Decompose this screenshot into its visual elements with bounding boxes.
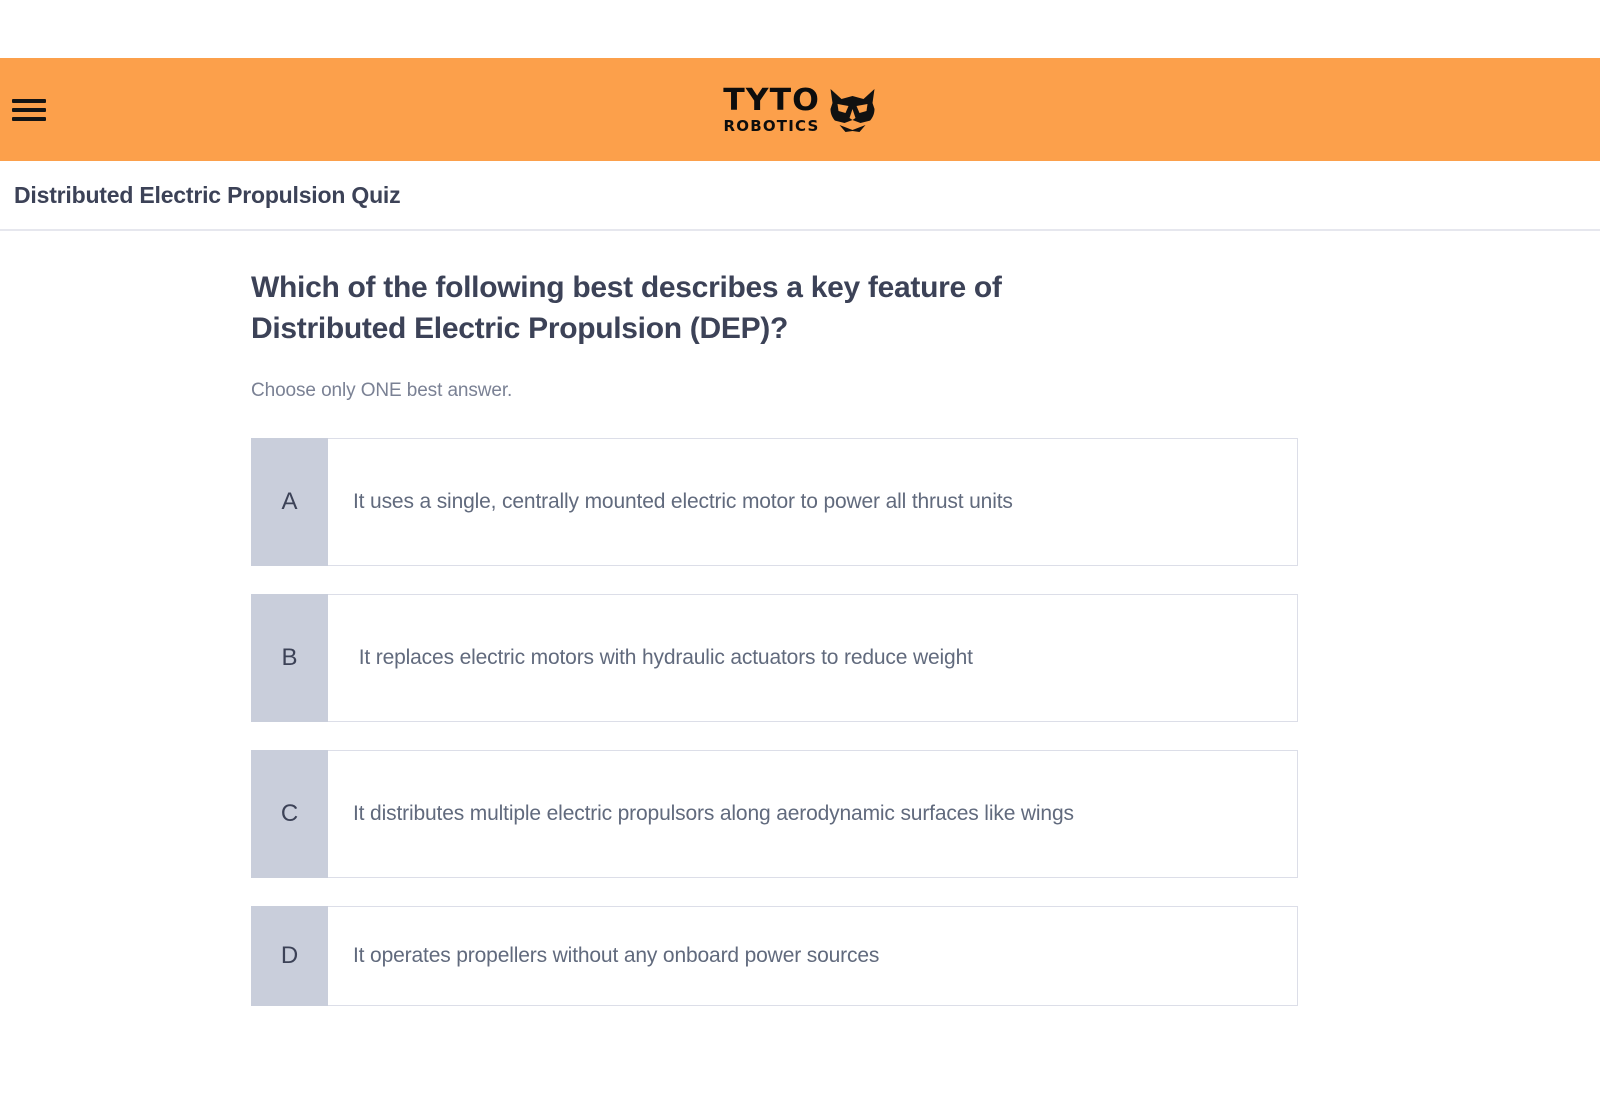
option-letter-a: A xyxy=(251,438,328,566)
top-white-strip xyxy=(0,0,1600,58)
app-header: TYTO ROBOTICS xyxy=(0,58,1600,161)
brand-logo[interactable]: TYTO ROBOTICS xyxy=(724,86,877,134)
answer-option-d[interactable]: D It operates propellers without any onb… xyxy=(251,906,1298,1006)
answer-option-a[interactable]: A It uses a single, centrally mounted el… xyxy=(251,438,1298,566)
option-letter-d: D xyxy=(251,906,328,1006)
hamburger-menu-icon[interactable] xyxy=(12,97,46,123)
option-letter-b: B xyxy=(251,594,328,722)
option-text-d: It operates propellers without any onboa… xyxy=(328,907,1297,1005)
option-text-a: It uses a single, centrally mounted elec… xyxy=(328,439,1297,565)
quiz-title-bar: Distributed Electric Propulsion Quiz xyxy=(0,161,1600,231)
option-letter-c: C xyxy=(251,750,328,878)
answer-option-b[interactable]: B It replaces electric motors with hydra… xyxy=(251,594,1298,722)
hamburger-bar-2 xyxy=(12,108,46,112)
brand-name-primary: TYTO xyxy=(723,86,820,116)
question-block: Which of the following best describes a … xyxy=(251,268,1151,402)
hamburger-bar-1 xyxy=(12,99,46,103)
question-instruction: Choose only ONE best answer. xyxy=(251,380,1151,402)
answer-options-list: A It uses a single, centrally mounted el… xyxy=(251,438,1298,1006)
main-content: Which of the following best describes a … xyxy=(0,268,1600,1006)
option-text-b: It replaces electric motors with hydraul… xyxy=(328,595,1297,721)
option-text-c: It distributes multiple electric propuls… xyxy=(328,751,1297,877)
answer-option-c[interactable]: C It distributes multiple electric propu… xyxy=(251,750,1298,878)
question-title: Which of the following best describes a … xyxy=(251,268,1131,350)
brand-name-secondary: ROBOTICS xyxy=(724,119,820,134)
brand-wordmark: TYTO ROBOTICS xyxy=(724,86,820,134)
quiz-title: Distributed Electric Propulsion Quiz xyxy=(14,182,400,209)
hamburger-bar-3 xyxy=(12,117,46,121)
owl-logo-icon xyxy=(829,87,877,133)
